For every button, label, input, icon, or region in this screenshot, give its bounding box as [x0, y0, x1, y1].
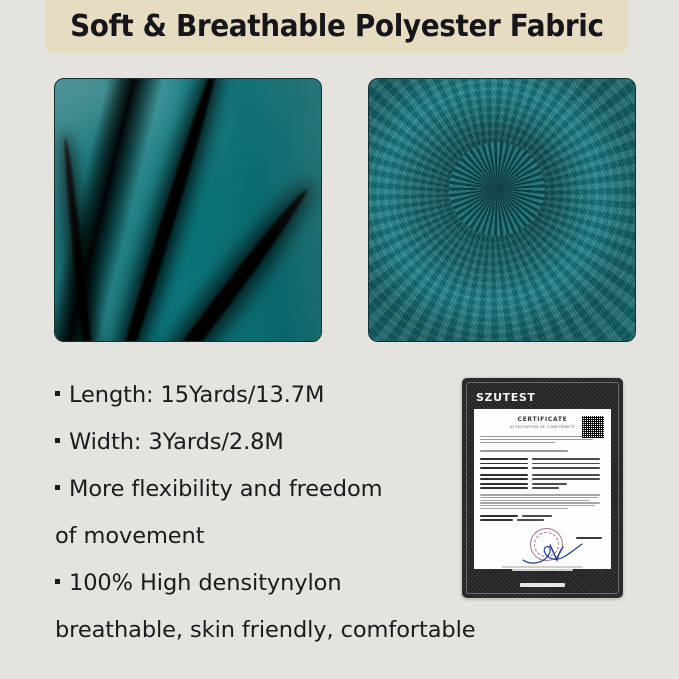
bullet-square-icon [55, 485, 60, 490]
fabric-photo-row [0, 78, 679, 344]
qr-code-icon [582, 416, 604, 438]
certificate-frame: SZUTEST CERTIFICATE ATTESTATION OF CONFO… [466, 382, 619, 594]
spec-item-length: Length: 15Yards/13.7M [55, 372, 455, 419]
bullet-square-icon [55, 438, 60, 443]
certificate-row [480, 474, 605, 476]
fabric-photo-knit [368, 78, 636, 342]
spec-list: Length: 15Yards/13.7M Width: 3Yards/2.8M… [55, 372, 455, 654]
certificate-row [480, 478, 605, 480]
satin-sheen-overlay [55, 79, 321, 341]
spec-item-material-continued: breathable, skin friendly, comfortable [55, 607, 455, 654]
spec-item-flexibility-continued: of movement [55, 513, 455, 560]
certificate-row [480, 467, 605, 469]
certificate-brand-label: SZUTEST [476, 391, 535, 404]
knit-vignette-overlay [369, 79, 635, 341]
bullet-square-icon [55, 579, 60, 584]
spec-text: 100% High densitynylon [69, 560, 342, 607]
spec-text: of movement [55, 513, 204, 560]
spec-item-width: Width: 3Yards/2.8M [55, 419, 455, 466]
spec-text: Length: 15Yards/13.7M [69, 372, 324, 419]
certificate-paper: CERTIFICATE ATTESTATION OF CONFORMITY [474, 409, 611, 569]
certificate-card: SZUTEST CERTIFICATE ATTESTATION OF CONFO… [462, 378, 623, 598]
certificate-date-rows [480, 515, 605, 521]
certificate-footer-strip [467, 566, 618, 591]
certificate-row [480, 463, 605, 465]
certificate-row [480, 515, 605, 517]
certificate-footer-paragraph [480, 494, 605, 509]
certificate-detail-rows [480, 458, 605, 489]
certificate-footer-tag [520, 583, 565, 587]
spec-text: More flexibility and freedom [69, 466, 382, 513]
certificate-scope-line [480, 450, 605, 452]
certificate-signature-icon [520, 539, 586, 565]
title-banner: Soft & Breathable Polyester Fabric [45, 0, 628, 53]
spec-text: Width: 3Yards/2.8M [69, 419, 284, 466]
spec-item-flexibility: More flexibility and freedom [55, 466, 455, 513]
page-title: Soft & Breathable Polyester Fabric [70, 9, 604, 44]
certificate-row [480, 519, 605, 521]
certificate-row [480, 487, 605, 489]
bullet-square-icon [55, 391, 60, 396]
certificate-row [480, 458, 605, 460]
spec-text: breathable, skin friendly, comfortable [55, 607, 476, 654]
spec-item-material: 100% High densitynylon [55, 560, 455, 607]
certificate-row [480, 483, 605, 485]
fabric-photo-satin [54, 78, 322, 342]
